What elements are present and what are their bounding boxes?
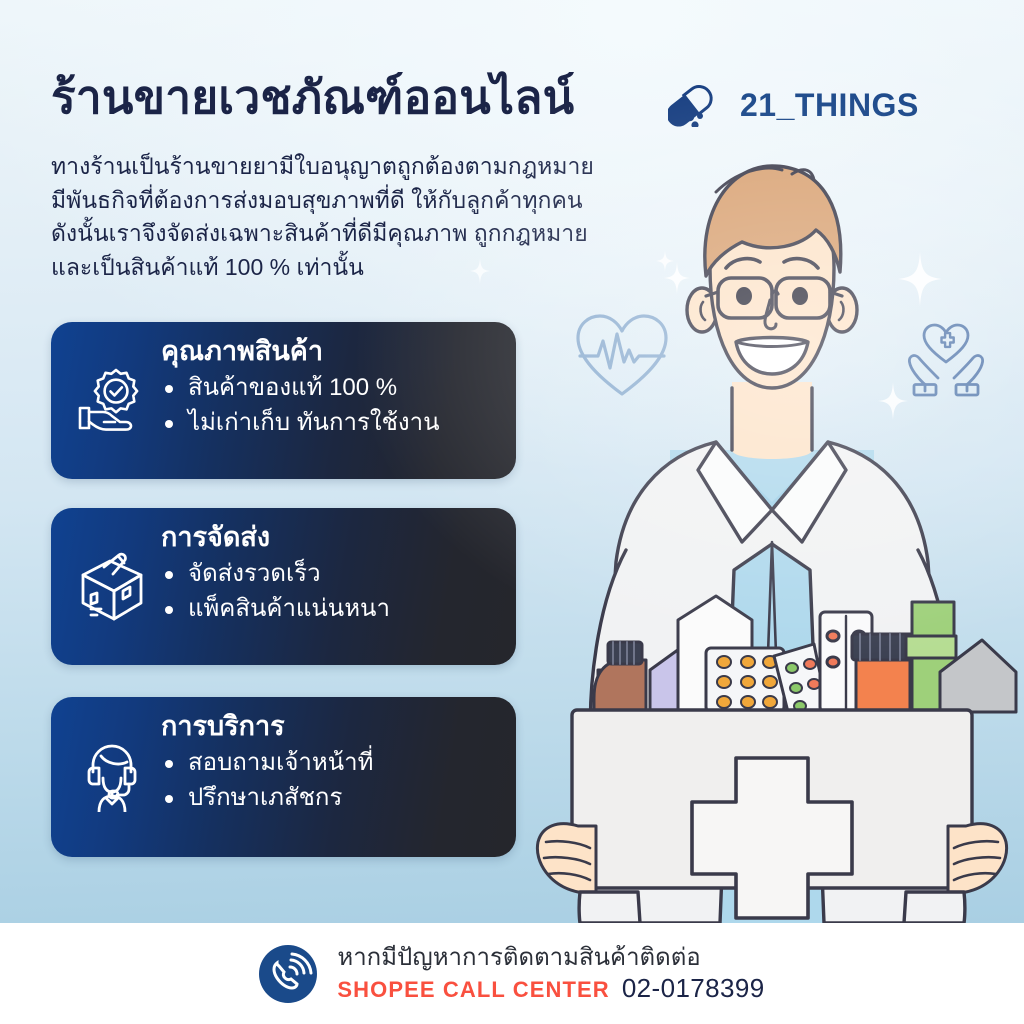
intro-line-1: ทางร้านเป็นร้านขายยามีใบอนุญาตถูกต้องตาม… [51, 150, 691, 184]
sparkle-star-icon [664, 262, 690, 294]
intro-line-2: มีพันธกิจที่ต้องการส่งมอบสุขภาพที่ดี ให้… [51, 184, 691, 218]
intro-line-3: ดังนั้นเราจึงจัดส่งเฉพาะสินค้าที่ดีมีคุณ… [51, 217, 691, 251]
intro-paragraph: ทางร้านเป็นร้านขายยามีใบอนุญาตถูกต้องตาม… [51, 150, 691, 284]
call-center-number[interactable]: 02-0178399 [622, 974, 765, 1003]
page-title: ร้านขายเวชภัณฑ์ออนไลน์ [51, 74, 574, 120]
call-center-label: SHOPEE CALL CENTER [337, 978, 609, 1002]
footer-text-block: หากมีปัญหาการติดตามสินค้าติดต่อ SHOPEE C… [337, 945, 764, 1003]
feature-card-body: คุณภาพสินค้า สินค้าของแท้ 100 % ไม่เก่าเ… [161, 336, 502, 440]
pharmacist-holding-medicine-box-illustration [520, 150, 1024, 923]
hands-holding-heart-cross-icon [903, 318, 989, 402]
footer-contact-bar: หากมีปัญหาการติดตามสินค้าติดต่อ SHOPEE C… [0, 923, 1024, 1024]
capsule-pill-icon [668, 83, 724, 127]
sparkle-star-icon [470, 258, 490, 284]
headset-support-agent-icon [73, 738, 151, 816]
feature-card-title: การบริการ [161, 711, 502, 743]
footer-message: หากมีปัญหาการติดตามสินค้าติดต่อ [337, 945, 764, 971]
feature-card-quality[interactable]: คุณภาพสินค้า สินค้าของแท้ 100 % ไม่เก่าเ… [51, 322, 516, 479]
sparkle-star-icon [656, 250, 674, 272]
feature-card-body: การจัดส่ง จัดส่งรวดเร็ว แพ็คสินค้าแน่นหน… [161, 522, 502, 626]
list-item: จัดส่งรวดเร็ว [161, 556, 502, 591]
phone-ringing-icon[interactable] [259, 945, 317, 1003]
feature-card-title: การจัดส่ง [161, 522, 502, 554]
sparkle-star-icon [878, 382, 908, 420]
infographic-poster: ร้านขายเวชภัณฑ์ออนไลน์ 21_THINGS ทางร้าน… [0, 0, 1024, 1024]
list-item: สินค้าของแท้ 100 % [161, 370, 502, 405]
feature-card-list: จัดส่งรวดเร็ว แพ็คสินค้าแน่นหนา [161, 556, 502, 626]
brand-name: 21_THINGS [740, 87, 919, 124]
feature-card-title: คุณภาพสินค้า [161, 336, 502, 368]
brand-logo: 21_THINGS [668, 83, 919, 127]
list-item: ปรึกษาเภสัชกร [161, 780, 502, 815]
sparkle-star-icon [898, 252, 942, 306]
feature-card-list: สินค้าของแท้ 100 % ไม่เก่าเก็บ ทันการใช้… [161, 370, 502, 440]
heart-heartbeat-icon [572, 310, 672, 402]
shipping-box-icon [73, 548, 151, 626]
list-item: สอบถามเจ้าหน้าที่ [161, 745, 502, 780]
intro-line-4: และเป็นสินค้าแท้ 100 % เท่านั้น [51, 251, 691, 285]
list-item: แพ็คสินค้าแน่นหนา [161, 591, 502, 626]
main-panel: ร้านขายเวชภัณฑ์ออนไลน์ 21_THINGS ทางร้าน… [0, 0, 1024, 923]
quality-badge-in-hand-icon [73, 362, 151, 440]
feature-card-shipping[interactable]: การจัดส่ง จัดส่งรวดเร็ว แพ็คสินค้าแน่นหน… [51, 508, 516, 665]
feature-card-list: สอบถามเจ้าหน้าที่ ปรึกษาเภสัชกร [161, 745, 502, 815]
feature-card-service[interactable]: การบริการ สอบถามเจ้าหน้าที่ ปรึกษาเภสัชก… [51, 697, 516, 857]
list-item: ไม่เก่าเก็บ ทันการใช้งาน [161, 405, 502, 440]
footer-contact-line: SHOPEE CALL CENTER 02-0178399 [337, 974, 764, 1003]
feature-card-body: การบริการ สอบถามเจ้าหน้าที่ ปรึกษาเภสัชก… [161, 711, 502, 815]
